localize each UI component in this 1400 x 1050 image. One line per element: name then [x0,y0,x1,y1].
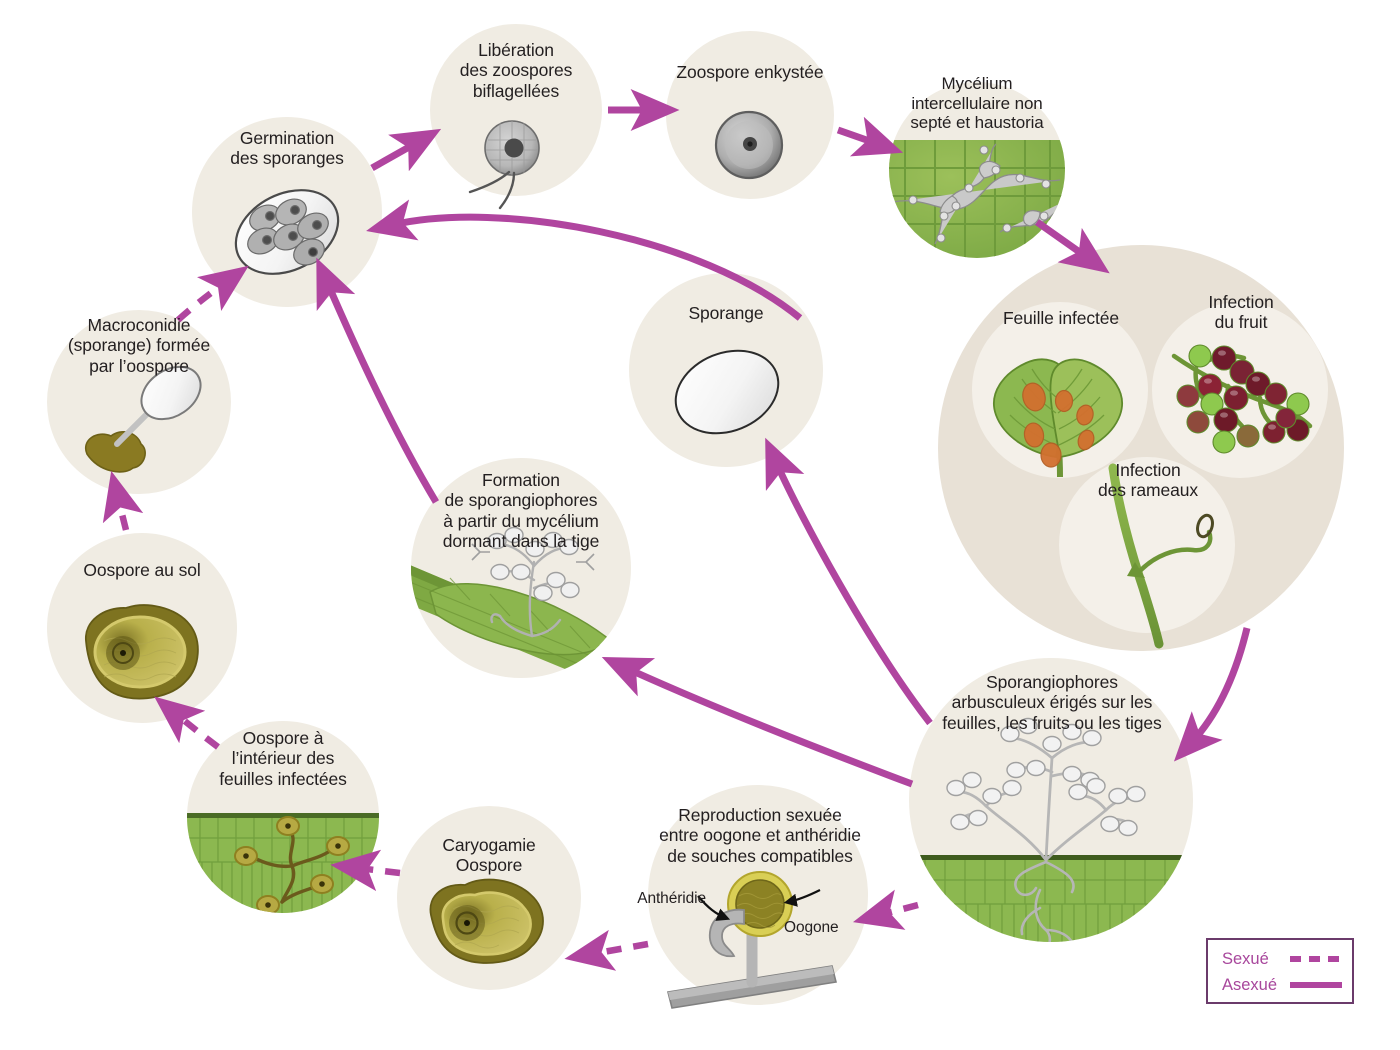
label-oospore-feuille: Oospore àl’intérieur desfeuilles infecté… [185,728,381,789]
label-sporange: Sporange [636,303,816,323]
label-oospore-sol: Oospore au sol [47,560,237,580]
arrow-sporangiophores-to-sporange [776,462,930,723]
label-reproduction: Reproduction sexuéeentre oogone et anthé… [648,805,872,866]
label-sporangiophores: Sporangiophoresarbusculeux érigés sur le… [934,672,1170,733]
arrow-cluster-to-sporangiophores [1192,628,1247,742]
legend-label-sexual: Sexué [1208,950,1286,969]
legend-swatch-solid-line [1290,982,1342,988]
illus-mycelium-haustoria [885,140,1073,262]
label-enkystee: Zoospore enkystée [660,62,840,82]
label-oogone: Oogone [784,919,894,937]
arrow-sporangiophores-to-formation [626,668,912,784]
label-macroconidie: Macroconidie(sporange) forméepar l’oospo… [32,315,246,376]
legend: Sexué Asexué [1206,938,1354,1004]
label-liberation: Libérationdes zoosporesbiflagellées [426,40,606,101]
illus-caryogamy-oospore [430,880,543,963]
illus-encysted-zoospore [716,112,782,178]
label-mycelium: Mycéliumintercellulaire nonsepté et haus… [880,74,1074,133]
arrow-enkystee-to-mycelium [838,130,878,144]
label-antheridie: Anthéridie [586,890,706,908]
arrow-formation-to-germination [327,282,436,502]
illus-oospore-soil [86,605,198,698]
arrow-reproduction-to-caryogamie [592,944,648,954]
label-germination: Germinationdes sporanges [192,128,382,169]
arrow-sporangiophores-to-reproduction [880,905,918,915]
legend-row-sexual: Sexué [1208,946,1352,972]
legend-swatch-dashed-line [1290,956,1342,962]
lifecycle-diagram: Germinationdes sporanges Libérationdes z… [0,0,1400,1050]
label-infection-rameaux: Infectiondes rameaux [1057,460,1239,501]
arrow-oospore-sol-to-macroconidie [118,498,126,530]
arrow-caryogamie-to-oospore-feuille [358,868,400,873]
illus-oospore-in-leaf [185,813,383,915]
legend-label-asexual: Asexué [1208,976,1286,995]
label-caryogamie: CaryogamieOospore [399,835,579,876]
label-infection-fruit: Infectiondu fruit [1150,292,1332,333]
label-feuille-infectee: Feuille infectée [968,308,1154,328]
label-formation: Formationde sporangiophoresà partir du m… [410,470,632,551]
arrow-mycelium-to-cluster [1037,222,1088,258]
legend-row-asexual: Asexué [1208,972,1352,998]
